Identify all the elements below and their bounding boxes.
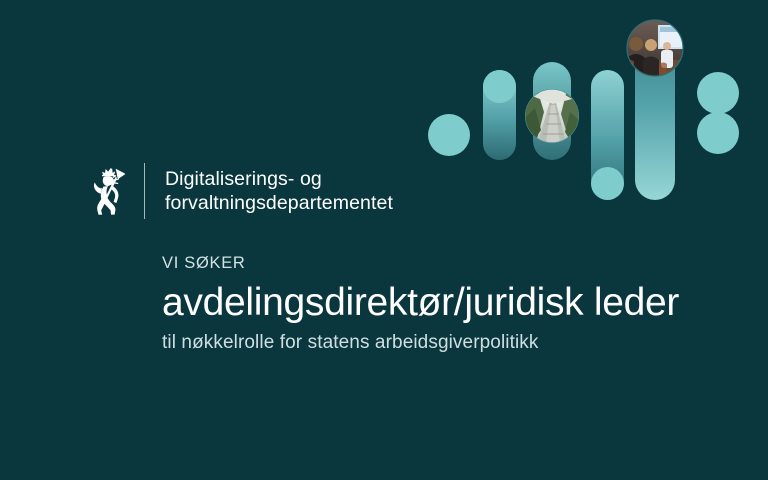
- job-title: avdelingsdirektør/juridisk leder: [162, 280, 722, 326]
- kicker-label: VI SØKER: [162, 252, 722, 274]
- department-name: Digitaliserings- og forvaltningsdepartem…: [165, 167, 393, 215]
- deco-dot-1: [428, 114, 470, 156]
- headline-block: VI SØKER avdelingsdirektør/juridisk lede…: [162, 252, 722, 356]
- deco-dot-7: [697, 112, 739, 154]
- logo-lockup: Digitaliserings- og forvaltningsdepartem…: [86, 160, 393, 222]
- decoration-graphic: [420, 0, 768, 215]
- deco-pill-2-cap: [483, 70, 516, 103]
- norwegian-coat-of-arms-icon: [86, 162, 132, 220]
- poster-canvas: Digitaliserings- og forvaltningsdepartem…: [0, 0, 768, 480]
- logo-divider: [144, 163, 145, 219]
- job-subtitle: til nøkkelrolle for statens arbeidsgiver…: [162, 330, 722, 356]
- deco-dot-6: [697, 72, 739, 114]
- deco-photo-meeting: [625, 20, 684, 76]
- deco-pill-4-cap: [591, 167, 624, 200]
